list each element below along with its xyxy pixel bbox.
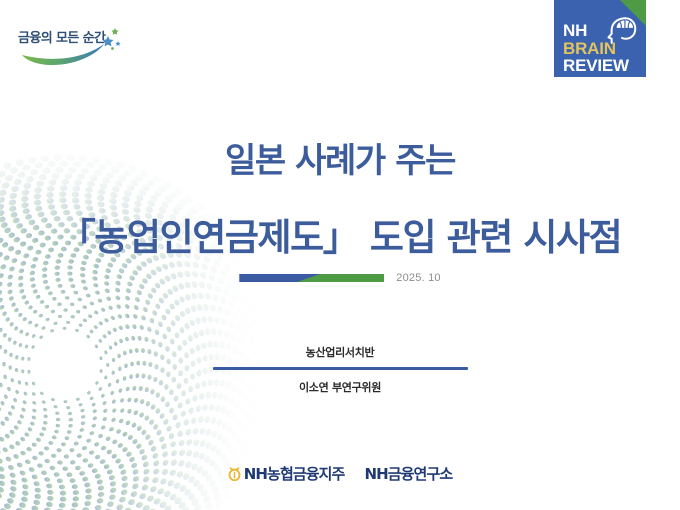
gradient-rule [239, 274, 384, 282]
title-line-1: 일본 사례가 주는 [0, 140, 680, 182]
footer-logo-label-1: NH농협금융지주 [244, 463, 345, 484]
author-team: 농산업리서치반 [0, 344, 680, 360]
publication-date: 2025. 10 [396, 272, 440, 284]
date-row: 2025. 10 [0, 272, 680, 284]
nh-brain-review-badge: NH BRAIN REVIEW [554, 0, 646, 77]
author-block: 농산업리서치반 이소연 부연구위원 [0, 344, 680, 395]
footer-logo-nh-financial-group: NH농협금융지주 [228, 463, 345, 484]
footer-logo-nh-research-institute: NH금융연구소 [364, 463, 452, 484]
presentation-cover-slide: 금융의 모든 순간 [0, 0, 680, 510]
title-line-2: 「농업인연금제도」 도입 관련 시사점 [0, 214, 680, 262]
footer-logo-label-2: NH금융연구소 [364, 463, 452, 484]
brand-logo: 금융의 모든 순간 [16, 24, 136, 72]
brand-logo-text: 금융의 모든 순간 [18, 27, 105, 46]
title-block: 일본 사례가 주는 「농업인연금제도」 도입 관련 시사점 [0, 140, 680, 262]
badge-line-brain: BRAIN [563, 40, 616, 57]
author-name: 이소연 부연구위원 [0, 379, 680, 395]
author-divider [213, 367, 468, 370]
footer-logos: NH농협금융지주 NH금융연구소 [0, 463, 680, 484]
badge-line-review: REVIEW [563, 57, 629, 74]
badge-line-nh: NH [563, 22, 587, 39]
nh-emblem-icon [228, 466, 241, 481]
